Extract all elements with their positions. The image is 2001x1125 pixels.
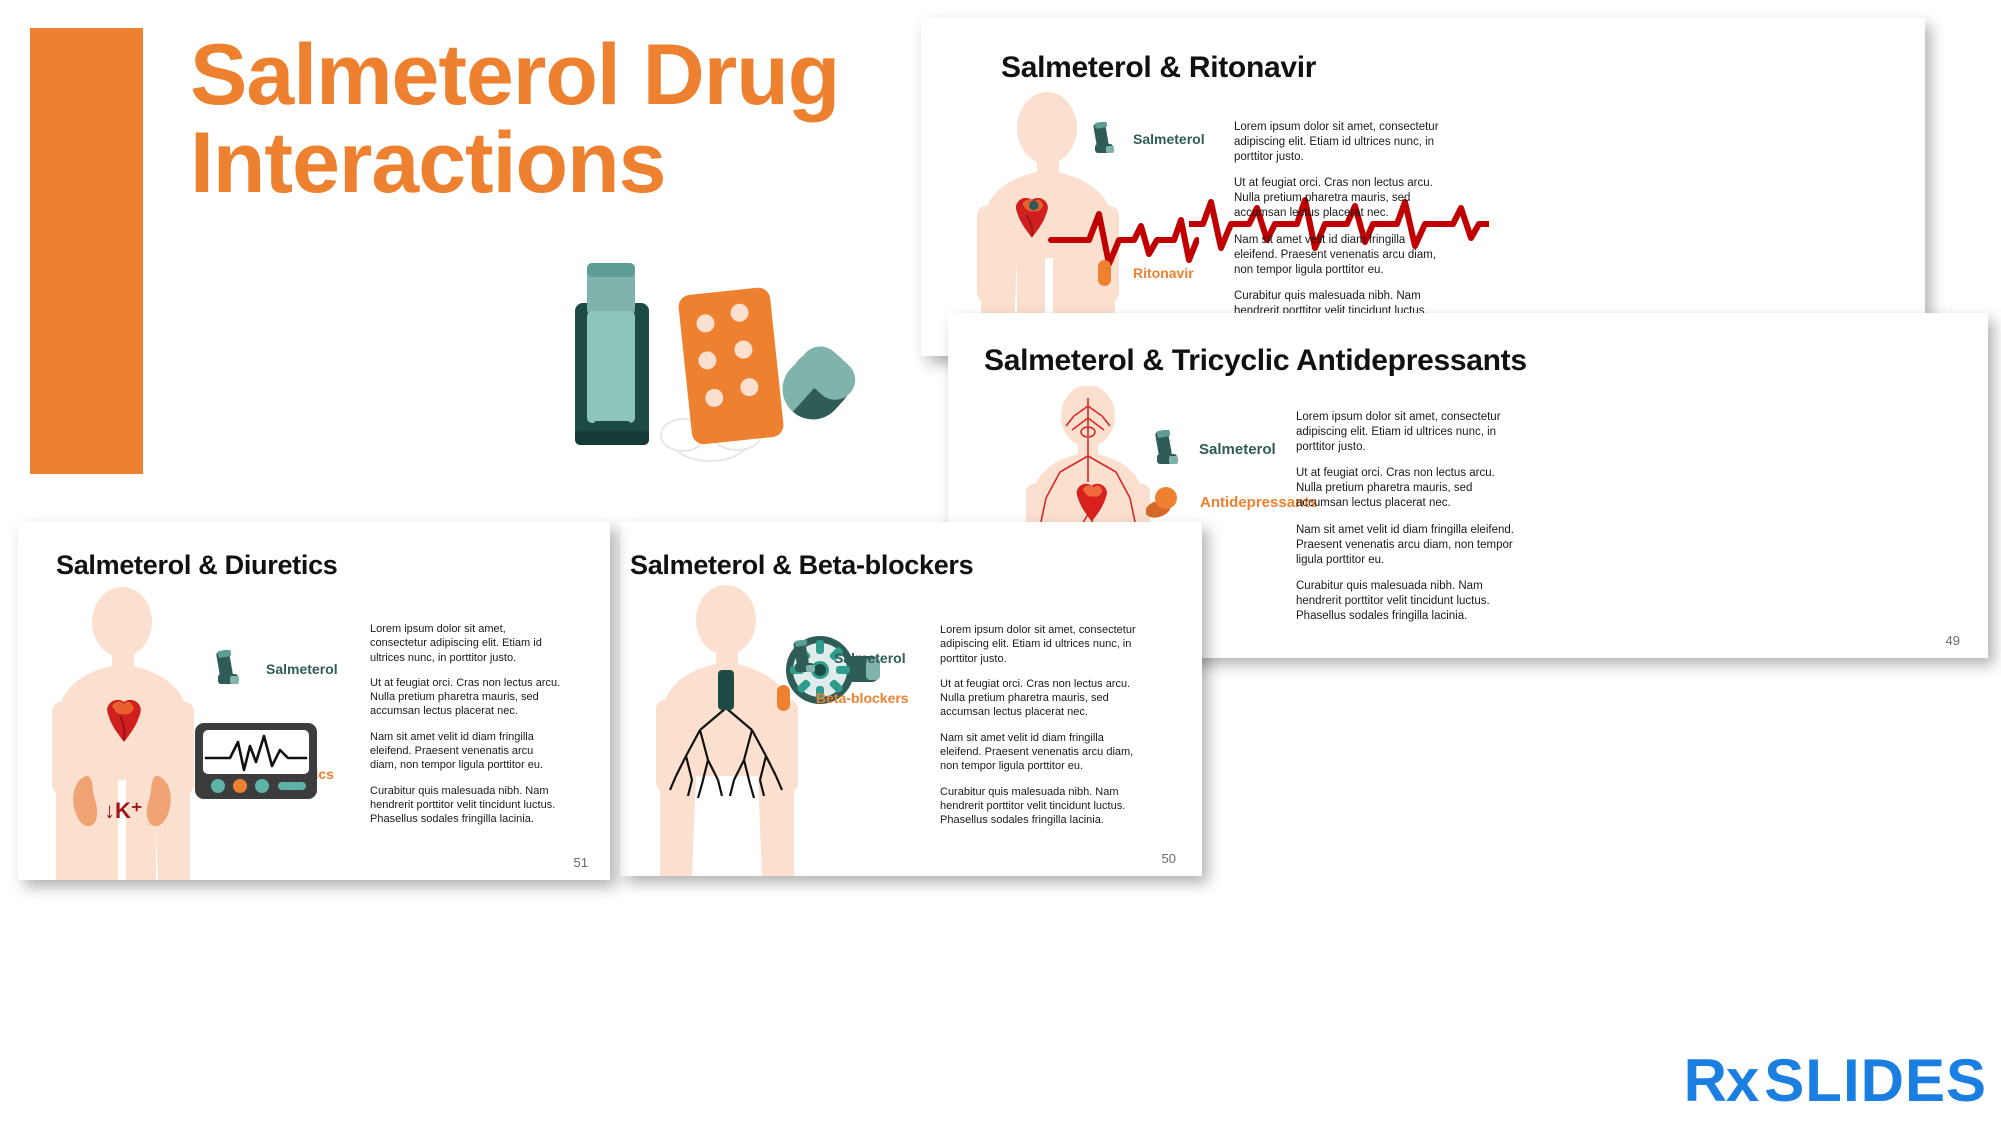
body-text-diuretics: Lorem ipsum dolor sit amet, consectetur … [370, 622, 562, 827]
paragraph-3: Nam sit amet velit id diam fringilla ele… [940, 731, 1136, 774]
legend-label-salmeterol: Salmeterol [1133, 131, 1205, 147]
paragraph-3: Nam sit amet velit id diam fringilla ele… [1296, 523, 1514, 568]
page-number-diuretics: 51 [574, 855, 588, 870]
inhaler-icon [792, 640, 818, 676]
paragraph-3: Nam sit amet velit id diam fringilla ele… [1234, 233, 1449, 278]
rxslides-logo[interactable]: Rx SLIDES [1684, 1051, 1987, 1111]
slide-card-ritonavir[interactable]: Salmeterol & Ritonavir [921, 18, 1925, 356]
inhaler-icon [1091, 122, 1117, 156]
slide-title-beta-blockers: Salmeterol & Beta-blockers [630, 550, 973, 581]
slide-card-diuretics[interactable]: Salmeterol & Diuretics ↓K⁺ [18, 522, 610, 880]
paragraph-1: Lorem ipsum dolor sit amet, consectetur … [1296, 410, 1514, 455]
logo-slides-text: SLIDES [1764, 1051, 1987, 1111]
slide-card-beta-blockers[interactable]: Salmeterol & Beta-blockers [620, 522, 1202, 876]
body-text-tricyclic: Lorem ipsum dolor sit amet, consectetur … [1296, 410, 1514, 624]
legend-item-beta-blockers[interactable]: Beta-blockers [770, 680, 909, 716]
inhaler-icon [1153, 430, 1181, 468]
page-number-beta-blockers: 50 [1162, 851, 1176, 866]
paragraph-4: Curabitur quis malesuada nibh. Nam hendr… [940, 785, 1136, 828]
capsule-icon [1091, 256, 1117, 290]
legend-item-ritonavir[interactable]: Ritonavir [1091, 256, 1194, 290]
legend-item-salmeterol[interactable]: Salmeterol [792, 640, 906, 676]
legend-item-salmeterol[interactable]: Salmeterol [1153, 430, 1276, 468]
legend-label-salmeterol: Salmeterol [266, 661, 338, 677]
potassium-annotation: ↓K⁺ [104, 798, 143, 823]
capsule-icon [770, 680, 796, 716]
slide-title-tricyclic: Salmeterol & Tricyclic Antidepressants [984, 344, 1527, 378]
inhaler-icon [214, 650, 242, 688]
paragraph-1: Lorem ipsum dolor sit amet, consectetur … [1234, 120, 1449, 165]
legend-item-salmeterol[interactable]: Salmeterol [1091, 122, 1205, 156]
ecg-monitor-icon [194, 722, 318, 800]
legend-item-antidepressants[interactable]: Antidepressants [1146, 485, 1318, 519]
legend-label-salmeterol: Salmeterol [834, 650, 906, 666]
paragraph-1: Lorem ipsum dolor sit amet, consectetur … [370, 622, 562, 665]
page-title: Salmeterol Drug Interactions [190, 32, 890, 207]
logo-rx-text: Rx [1684, 1051, 1759, 1111]
page-number-tricyclic: 49 [1946, 633, 1960, 648]
body-text-ritonavir: Lorem ipsum dolor sit amet, consectetur … [1234, 120, 1449, 334]
paragraph-2: Ut at feugiat orci. Cras non lectus arcu… [940, 677, 1136, 720]
paragraph-2: Ut at feugiat orci. Cras non lectus arcu… [370, 676, 562, 719]
slide-title-diuretics: Salmeterol & Diuretics [56, 550, 338, 581]
legend-label-salmeterol: Salmeterol [1199, 441, 1276, 458]
paragraph-2: Ut at feugiat orci. Cras non lectus arcu… [1296, 466, 1514, 511]
paragraph-4: Curabitur quis malesuada nibh. Nam hendr… [1296, 579, 1514, 624]
body-text-beta-blockers: Lorem ipsum dolor sit amet, consectetur … [940, 623, 1136, 828]
orange-accent-bar [30, 28, 143, 474]
pill-tablet-icon [1146, 485, 1182, 519]
paragraph-3: Nam sit amet velit id diam fringilla ele… [370, 730, 562, 773]
page-title-line-1: Salmeterol Drug [190, 32, 890, 120]
legend-label-beta-blockers: Beta-blockers [816, 690, 909, 706]
slide-preview-canvas: Salmeterol Drug Interactions [0, 0, 2001, 1125]
slide-title-ritonavir: Salmeterol & Ritonavir [1001, 51, 1316, 85]
paragraph-2: Ut at feugiat orci. Cras non lectus arcu… [1234, 176, 1449, 221]
paragraph-1: Lorem ipsum dolor sit amet, consectetur … [940, 623, 1136, 666]
legend-label-ritonavir: Ritonavir [1133, 265, 1194, 281]
legend-item-salmeterol[interactable]: Salmeterol [214, 650, 338, 688]
page-title-line-2: Interactions [190, 120, 890, 208]
paragraph-4: Curabitur quis malesuada nibh. Nam hendr… [370, 784, 562, 827]
inhaler-pills-illustration [565, 245, 875, 465]
